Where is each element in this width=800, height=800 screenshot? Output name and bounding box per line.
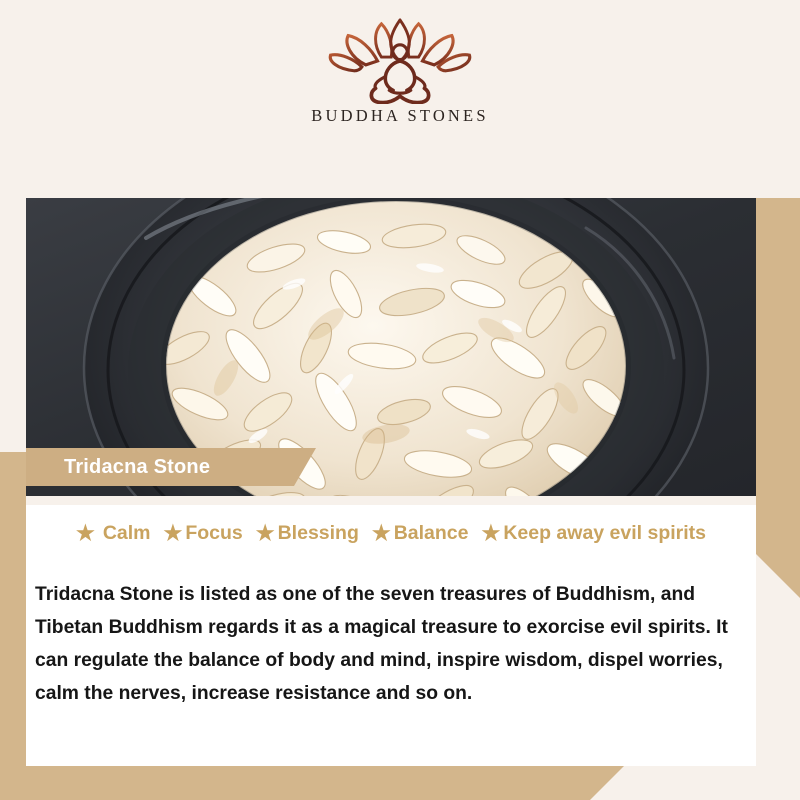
decor-frame-left	[0, 452, 26, 800]
description-paragraph: Tridacna Stone is listed as one of the s…	[35, 578, 744, 710]
photo-caption-band: Tridacna Stone	[26, 448, 316, 486]
benefit-item-keep-away-evil-spirits: ★ Keep away evil spirits	[482, 522, 707, 545]
star-icon: ★	[372, 523, 391, 544]
star-icon: ★	[482, 523, 501, 544]
poster-root: BUDDHA STONES Stone Features & Benefits	[0, 0, 800, 800]
header: BUDDHA STONES	[0, 0, 800, 198]
decor-frame-bottom	[0, 766, 624, 800]
benefit-label: Keep away evil spirits	[503, 522, 706, 545]
brand-name: BUDDHA STONES	[311, 106, 488, 126]
benefit-item-balance: ★ Balance	[372, 522, 469, 545]
benefit-label: Focus	[185, 522, 242, 545]
benefit-item-blessing: ★ Blessing	[256, 522, 359, 545]
lotus-meditation-logo-icon	[315, 16, 485, 104]
body-panel: ★ Calm ★ Focus ★ Blessing ★ Balance ★ Ke…	[26, 496, 756, 766]
benefits-row: ★ Calm ★ Focus ★ Blessing ★ Balance ★ Ke…	[26, 522, 756, 545]
star-icon: ★	[76, 523, 95, 544]
panel-top-strip	[26, 496, 756, 505]
benefit-label: Calm	[103, 522, 151, 545]
benefit-item-calm: ★ Calm	[76, 522, 151, 545]
photo-caption-text: Tridacna Stone	[26, 456, 210, 479]
star-icon: ★	[256, 523, 275, 544]
benefit-item-focus: ★ Focus	[164, 522, 243, 545]
benefit-label: Blessing	[278, 522, 359, 545]
star-icon: ★	[164, 523, 183, 544]
benefit-label: Balance	[394, 522, 469, 545]
product-photo: Tridacna Stone	[26, 198, 756, 496]
